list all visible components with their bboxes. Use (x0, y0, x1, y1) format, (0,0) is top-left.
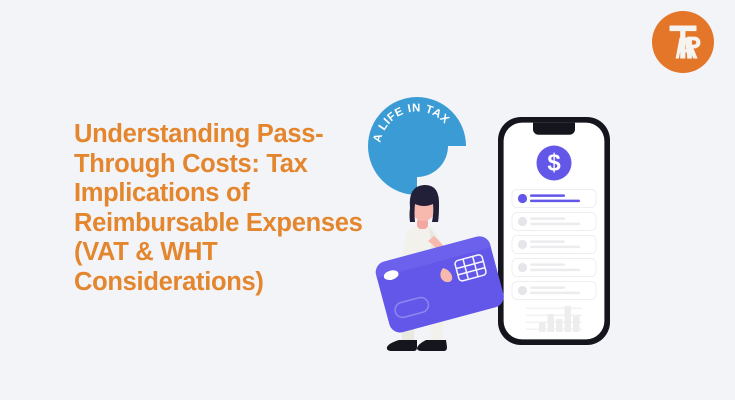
dollar-badge-icon: $ (537, 146, 572, 181)
phone-graphic: $ (498, 117, 610, 345)
list-row (512, 259, 596, 277)
list-row (512, 213, 596, 231)
phone-list (512, 190, 596, 300)
list-row (512, 282, 596, 300)
svg-text:$: $ (547, 150, 561, 177)
tar-monogram-logo[interactable]: TAR (652, 11, 714, 73)
phone-mockup: $ (498, 117, 610, 345)
a-life-in-tax-badge: A LIFE IN TAX A LIFE IN TAX (368, 97, 466, 195)
list-row-selected (512, 190, 596, 208)
person-illustration (366, 182, 506, 357)
credit-card-graphic (373, 234, 506, 335)
list-row (512, 236, 596, 254)
logo-mark-icon (660, 19, 706, 65)
blog-banner: TAR Understanding Pass-Through Costs: Ta… (0, 0, 735, 400)
page-title: Understanding Pass-Through Costs: Tax Im… (74, 120, 394, 297)
badge-shape-icon: A LIFE IN TAX (368, 97, 466, 195)
person-holding-credit-card (366, 182, 506, 357)
